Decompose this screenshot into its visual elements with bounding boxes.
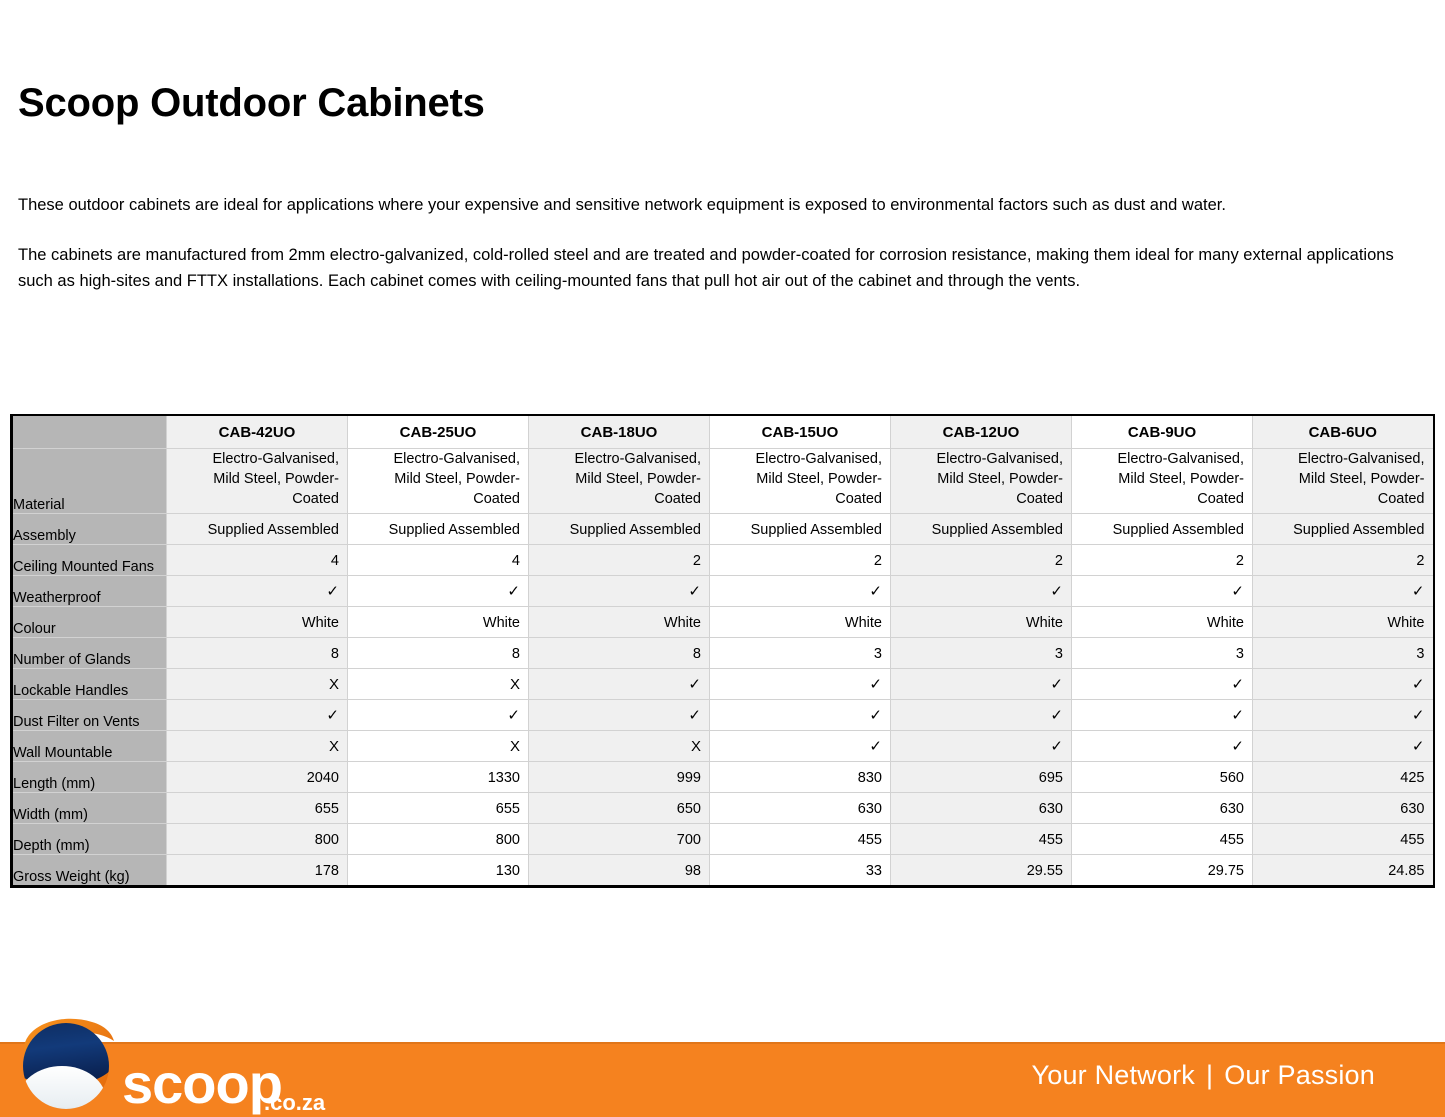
table-cell: Electro-Galvanised,Mild Steel, Powder-Co… [1072, 449, 1253, 514]
table-body: MaterialElectro-Galvanised,Mild Steel, P… [12, 449, 1434, 887]
intro-paragraph-2: The cabinets are manufactured from 2mm e… [18, 242, 1418, 294]
table-cell: ✓ [529, 700, 710, 731]
table-cell: Electro-Galvanised,Mild Steel, Powder-Co… [710, 449, 891, 514]
table-cell: 455 [1072, 824, 1253, 855]
table-cell: 2 [1072, 545, 1253, 576]
table-row-label: Assembly [12, 514, 167, 545]
table-cell: ✓ [891, 669, 1072, 700]
table-cell: 425 [1253, 762, 1434, 793]
table-cell: ✓ [1253, 576, 1434, 607]
table-row-label: Length (mm) [12, 762, 167, 793]
table-row-label: Colour [12, 607, 167, 638]
table-row: Gross Weight (kg)178130983329.5529.7524.… [12, 855, 1434, 887]
table-column-header-cab-15uo: CAB-15UO [710, 415, 891, 449]
table-cell: White [710, 607, 891, 638]
table-cell: 2 [529, 545, 710, 576]
footer-tagline-separator: | [1206, 1060, 1213, 1091]
table-cell: White [1072, 607, 1253, 638]
table-cell: 4 [167, 545, 348, 576]
table-cell: Supplied Assembled [167, 514, 348, 545]
table-cell: ✓ [1072, 669, 1253, 700]
table-row: Depth (mm)800800700455455455455 [12, 824, 1434, 855]
table-cell: Electro-Galvanised,Mild Steel, Powder-Co… [348, 449, 529, 514]
table-cell: ✓ [1253, 731, 1434, 762]
footer-tagline: Your Network|Our Passion [1032, 1060, 1375, 1091]
table-cell: 2 [891, 545, 1072, 576]
table-row: Weatherproof✓✓✓✓✓✓✓ [12, 576, 1434, 607]
table-cell: 3 [891, 638, 1072, 669]
table-header-row: CAB-42UOCAB-25UOCAB-18UOCAB-15UOCAB-12UO… [12, 415, 1434, 449]
table-cell: X [348, 731, 529, 762]
table-row-label: Lockable Handles [12, 669, 167, 700]
table-cell: 695 [891, 762, 1072, 793]
table-cell: 3 [1072, 638, 1253, 669]
table-cell: 455 [710, 824, 891, 855]
table-column-header-cab-12uo: CAB-12UO [891, 415, 1072, 449]
table-cell: ✓ [710, 669, 891, 700]
intro-paragraph-1: These outdoor cabinets are ideal for app… [18, 192, 1418, 218]
table-cell: ✓ [1072, 700, 1253, 731]
table-row: MaterialElectro-Galvanised,Mild Steel, P… [12, 449, 1434, 514]
table-cell: White [348, 607, 529, 638]
table-cell: 650 [529, 793, 710, 824]
table-cell: Electro-Galvanised,Mild Steel, Powder-Co… [891, 449, 1072, 514]
scoop-sphere-icon [14, 1008, 122, 1112]
table-cell: 2 [710, 545, 891, 576]
table-cell: Supplied Assembled [348, 514, 529, 545]
table-cell: X [167, 669, 348, 700]
table-row-label: Depth (mm) [12, 824, 167, 855]
table-cell: 455 [1253, 824, 1434, 855]
table-cell: ✓ [891, 576, 1072, 607]
table-row: Dust Filter on Vents✓✓✓✓✓✓✓ [12, 700, 1434, 731]
table-cell: 830 [710, 762, 891, 793]
table-cell: White [167, 607, 348, 638]
table-cell: White [1253, 607, 1434, 638]
table-column-header-cab-9uo: CAB-9UO [1072, 415, 1253, 449]
table-cell: 8 [348, 638, 529, 669]
table-cell: 3 [710, 638, 891, 669]
table-cell: 33 [710, 855, 891, 887]
table-cell: 630 [1253, 793, 1434, 824]
table-row: Lockable HandlesXX✓✓✓✓✓ [12, 669, 1434, 700]
table-cell: 2040 [167, 762, 348, 793]
table-column-header-cab-6uo: CAB-6UO [1253, 415, 1434, 449]
table-cell: 1330 [348, 762, 529, 793]
table-row: Width (mm)655655650630630630630 [12, 793, 1434, 824]
table-row-label: Material [12, 449, 167, 514]
table-cell: 630 [1072, 793, 1253, 824]
table-cell: 178 [167, 855, 348, 887]
scoop-logo: scoop .co.za [14, 1008, 334, 1117]
table-cell: ✓ [710, 576, 891, 607]
table-cell: ✓ [348, 700, 529, 731]
table-cell: 8 [529, 638, 710, 669]
table-row: AssemblySupplied AssembledSupplied Assem… [12, 514, 1434, 545]
table-cell: 98 [529, 855, 710, 887]
table-row-label: Wall Mountable [12, 731, 167, 762]
table-cell: 655 [167, 793, 348, 824]
table-cell: X [167, 731, 348, 762]
table-column-header-cab-25uo: CAB-25UO [348, 415, 529, 449]
scoop-wordmark: scoop [122, 1056, 282, 1112]
table-cell: ✓ [710, 700, 891, 731]
table-cell: 29.55 [891, 855, 1072, 887]
table-column-header-cab-18uo: CAB-18UO [529, 415, 710, 449]
table-cell: White [529, 607, 710, 638]
table-cell: Supplied Assembled [710, 514, 891, 545]
table-row-label: Number of Glands [12, 638, 167, 669]
scoop-tld: .co.za [264, 1092, 325, 1114]
table-cell: ✓ [529, 576, 710, 607]
table-cell: X [529, 731, 710, 762]
table-cell: Supplied Assembled [529, 514, 710, 545]
table-cell: Supplied Assembled [1253, 514, 1434, 545]
table-cell: Electro-Galvanised,Mild Steel, Powder-Co… [167, 449, 348, 514]
table-cell: 24.85 [1253, 855, 1434, 887]
table-cell: X [348, 669, 529, 700]
table-row-label: Width (mm) [12, 793, 167, 824]
table-cell: ✓ [1072, 731, 1253, 762]
table-cell: 29.75 [1072, 855, 1253, 887]
table-row: Ceiling Mounted Fans4422222 [12, 545, 1434, 576]
table-row: Number of Glands8883333 [12, 638, 1434, 669]
table-corner-cell [12, 415, 167, 449]
footer-tagline-left: Your Network [1032, 1060, 1195, 1090]
intro-block: These outdoor cabinets are ideal for app… [18, 192, 1418, 294]
table-row: Length (mm)20401330999830695560425 [12, 762, 1434, 793]
table-cell: ✓ [167, 576, 348, 607]
table-cell: 8 [167, 638, 348, 669]
table-cell: Supplied Assembled [1072, 514, 1253, 545]
table-cell: 4 [348, 545, 529, 576]
table-cell: 630 [891, 793, 1072, 824]
footer-tagline-right: Our Passion [1224, 1060, 1375, 1090]
table-cell: ✓ [1253, 700, 1434, 731]
table-row: ColourWhiteWhiteWhiteWhiteWhiteWhiteWhit… [12, 607, 1434, 638]
table-cell: ✓ [529, 669, 710, 700]
table-column-header-cab-42uo: CAB-42UO [167, 415, 348, 449]
table-cell: ✓ [1253, 669, 1434, 700]
table-cell: 630 [710, 793, 891, 824]
table-cell: 800 [167, 824, 348, 855]
table-cell: Electro-Galvanised,Mild Steel, Powder-Co… [529, 449, 710, 514]
table-row-label: Gross Weight (kg) [12, 855, 167, 887]
table-cell: 700 [529, 824, 710, 855]
table-cell: ✓ [891, 731, 1072, 762]
table-cell: ✓ [710, 731, 891, 762]
table-cell: White [891, 607, 1072, 638]
specification-table-container: CAB-42UOCAB-25UOCAB-18UOCAB-15UOCAB-12UO… [10, 414, 1434, 888]
specification-table: CAB-42UOCAB-25UOCAB-18UOCAB-15UOCAB-12UO… [10, 414, 1435, 888]
table-cell: 560 [1072, 762, 1253, 793]
table-cell: 130 [348, 855, 529, 887]
table-row-label: Dust Filter on Vents [12, 700, 167, 731]
table-row-label: Weatherproof [12, 576, 167, 607]
table-cell: 999 [529, 762, 710, 793]
table-cell: ✓ [348, 576, 529, 607]
table-cell: 455 [891, 824, 1072, 855]
table-cell: 2 [1253, 545, 1434, 576]
table-cell: ✓ [167, 700, 348, 731]
table-cell: 3 [1253, 638, 1434, 669]
page-title: Scoop Outdoor Cabinets [18, 82, 485, 124]
table-cell: ✓ [1072, 576, 1253, 607]
table-cell: 655 [348, 793, 529, 824]
table-cell: Electro-Galvanised,Mild Steel, Powder-Co… [1253, 449, 1434, 514]
table-row-label: Ceiling Mounted Fans [12, 545, 167, 576]
table-cell: Supplied Assembled [891, 514, 1072, 545]
table-row: Wall MountableXXX✓✓✓✓ [12, 731, 1434, 762]
table-cell: 800 [348, 824, 529, 855]
table-cell: ✓ [891, 700, 1072, 731]
